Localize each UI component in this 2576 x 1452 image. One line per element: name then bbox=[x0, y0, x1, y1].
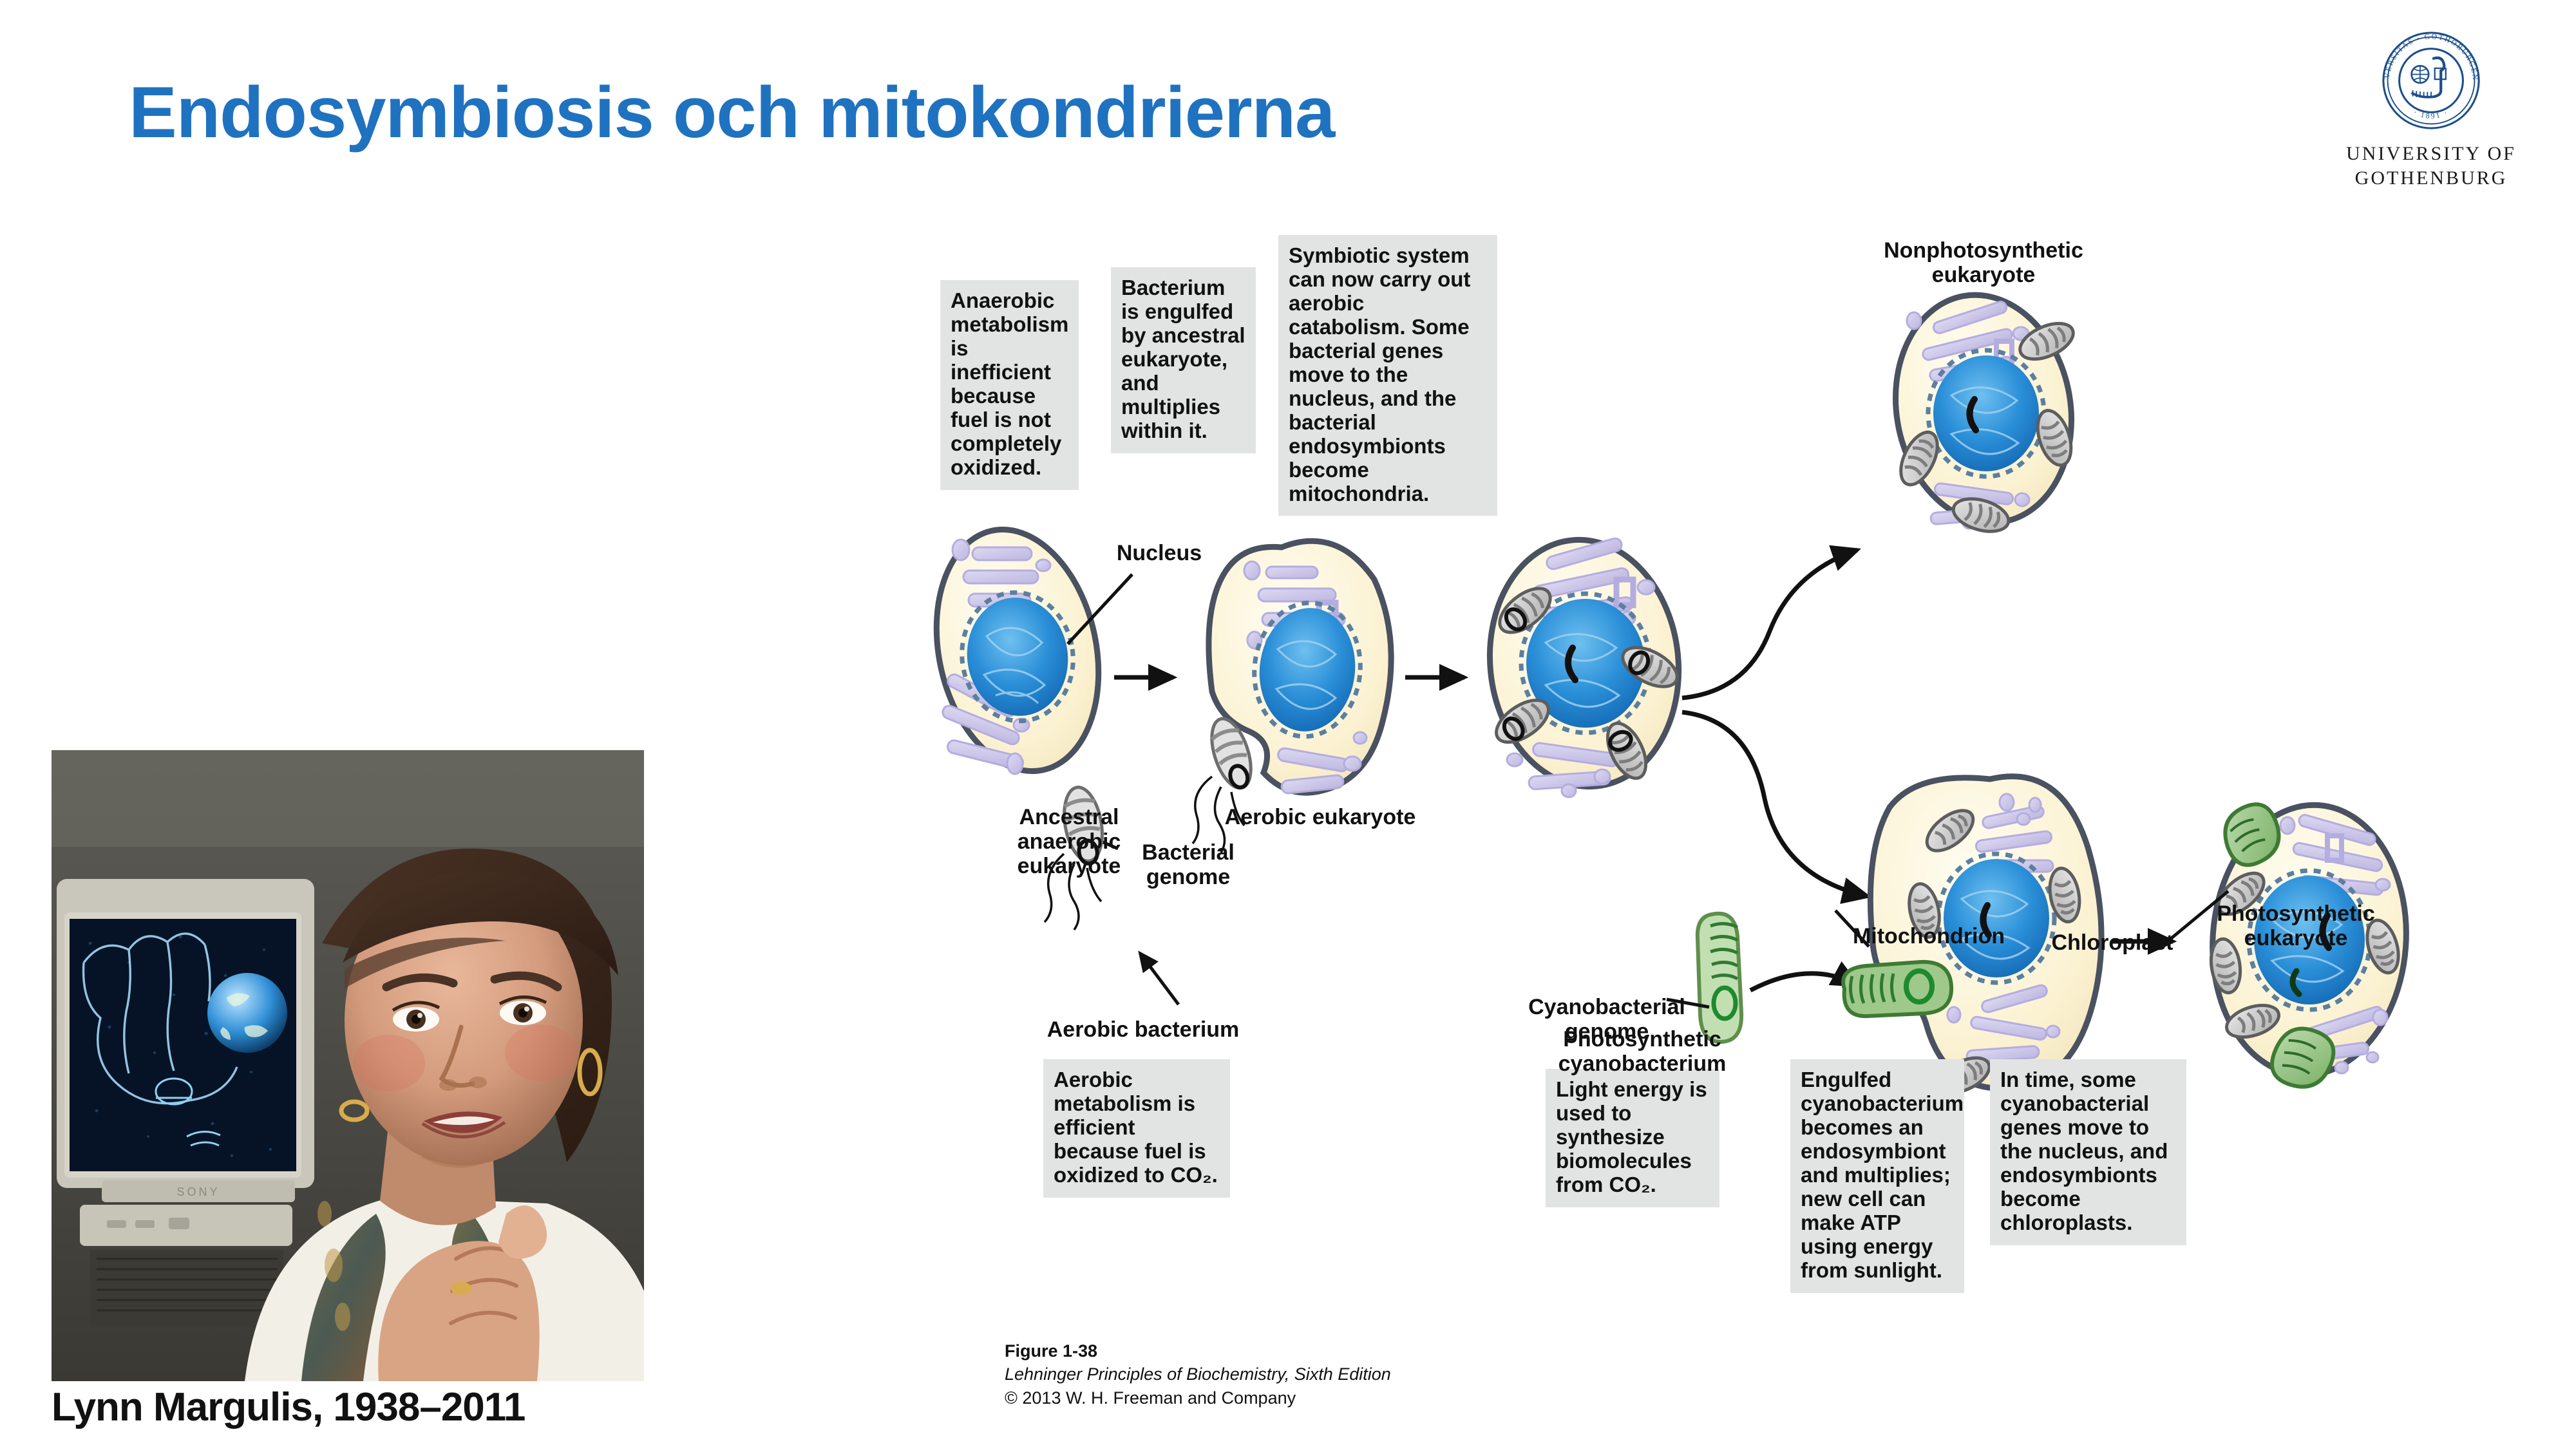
figure-caption: Figure 1-38 Lehninger Principles of Bioc… bbox=[1005, 1339, 1391, 1410]
callout-engulfed-cyanobacterium: Engulfed cyanobacterium becomes an endos… bbox=[1790, 1059, 1964, 1293]
callout-in-time-genes: In time, some cyanobacterial genes move … bbox=[1990, 1059, 2186, 1245]
arrow-branch-up bbox=[1682, 550, 1857, 698]
label-photosynthetic-eukaryote: Photosynthetic eukaryote bbox=[2167, 901, 2425, 950]
engulfed-cyanobacterium-shape bbox=[1843, 962, 1951, 1016]
label-bacterial-genome-text: Bacterial genome bbox=[1124, 840, 1253, 889]
svg-text:SONY: SONY bbox=[176, 1185, 220, 1198]
callout-symbiotic-system: Symbiotic system can now carry out aerob… bbox=[1278, 235, 1497, 516]
figure-source: Lehninger Principles of Biochemistry, Si… bbox=[1005, 1362, 1391, 1386]
lynn-margulis-photo: SONY bbox=[52, 750, 644, 1381]
logo-name-line-2: GOTHENBURG bbox=[2325, 166, 2537, 191]
label-aerobic-eukaryote: Aerobic eukaryote bbox=[1217, 805, 1423, 829]
callout-bacterium-engulfed: Bacterium is engulfed by ancestral eukar… bbox=[1111, 267, 1256, 453]
arrow-branch-down bbox=[1682, 712, 1868, 896]
callout-anaerobic-metabolism: Anaerobic metabolism is inefficient beca… bbox=[940, 280, 1079, 490]
label-nonphotosynthetic-eukaryote: Nonphotosynthetic eukaryote bbox=[1855, 238, 2112, 287]
label-mitochondrion: Mitochondrion bbox=[1829, 924, 2029, 948]
label-nucleus: Nucleus bbox=[1095, 541, 1224, 565]
university-seal-icon: UNIVERSITAS · GOTHOBURGENSIS · 1891 · bbox=[2370, 19, 2492, 142]
cell-ancestral-anaerobic-eukaryote bbox=[915, 514, 1120, 786]
label-photosynthetic-cyanobacterium-text: Photosynthetic cyanobacterium bbox=[1552, 1027, 1732, 1076]
svg-text:· 1891 ·: · 1891 · bbox=[2412, 108, 2450, 120]
arrow-aerobic-bacterium bbox=[1140, 953, 1179, 1004]
page-title: Endosymbiosis och mitokondrierna bbox=[129, 71, 1334, 154]
arrow-cyanobacterium-engulf bbox=[1750, 974, 1857, 990]
figure-copyright: © 2013 W. H. Freeman and Company bbox=[1005, 1386, 1391, 1410]
cell-aerobic-eukaryote bbox=[1478, 531, 1691, 797]
logo-name-line-1: UNIVERSITY OF bbox=[2325, 142, 2537, 166]
label-aerobic-bacterium: Aerobic bacterium bbox=[1040, 1017, 1246, 1042]
callout-light-energy: Light energy is used to synthesize biomo… bbox=[1546, 1069, 1719, 1207]
figure-number: Figure 1-38 bbox=[1005, 1339, 1391, 1362]
photo-caption: Lynn Margulis, 1938–2011 bbox=[52, 1384, 683, 1430]
callout-aerobic-metabolism: Aerobic metabolism is efficient because … bbox=[1043, 1059, 1230, 1198]
endosymbiosis-figure: Anaerobic metabolism is inefficient beca… bbox=[902, 245, 2576, 1449]
photo-image: SONY bbox=[52, 750, 644, 1381]
university-logo: UNIVERSITAS · GOTHOBURGENSIS · 1891 · UN… bbox=[2325, 19, 2537, 190]
cell-nonphotosynthetic-eukaryote bbox=[1878, 281, 2089, 537]
